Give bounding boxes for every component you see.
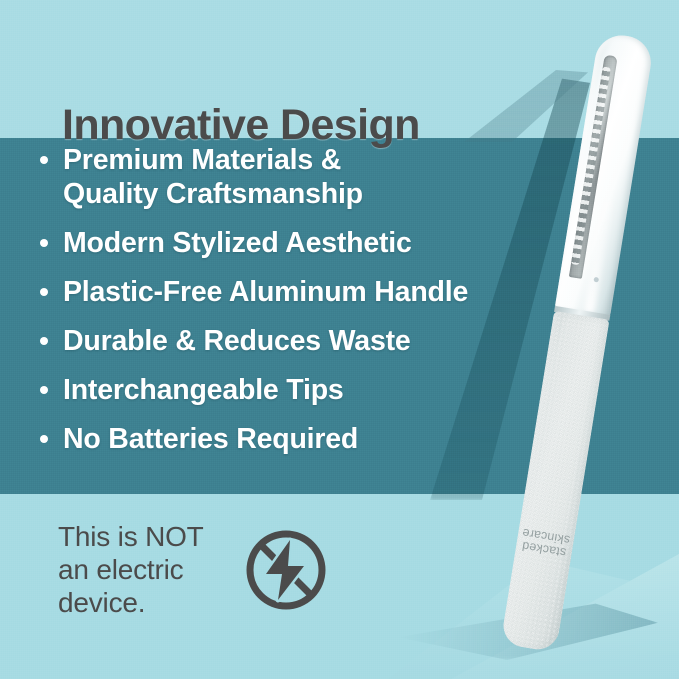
feature-text-line2: Quality Craftsmanship — [63, 177, 530, 211]
list-item: Durable & Reduces Waste — [30, 324, 530, 358]
feature-text: Interchangeable Tips — [63, 374, 344, 406]
notice-line-1: This is NOT — [58, 520, 204, 553]
list-item: Plastic-Free Aluminum Handle — [30, 275, 530, 309]
list-item: Modern Stylized Aesthetic — [30, 226, 530, 260]
feature-list: Premium Materials & Quality Craftsmanshi… — [30, 143, 530, 471]
no-electricity-icon — [242, 526, 330, 614]
feature-text: Premium Materials & — [63, 144, 341, 176]
list-item: Premium Materials & Quality Craftsmanshi… — [30, 143, 530, 211]
feature-text: Durable & Reduces Waste — [63, 325, 411, 357]
notice-line-2: an electric — [58, 553, 204, 586]
notice-line-3: device. — [58, 586, 204, 619]
notice-text: This is NOT an electric device. — [58, 520, 204, 619]
feature-text: Plastic-Free Aluminum Handle — [63, 276, 468, 308]
feature-text: No Batteries Required — [63, 423, 358, 455]
list-item: No Batteries Required — [30, 422, 530, 456]
product-infographic: stacked skincare Innovative Design Premi… — [0, 0, 679, 679]
not-electric-notice: This is NOT an electric device. — [58, 520, 330, 619]
list-item: Interchangeable Tips — [30, 373, 530, 407]
feature-text: Modern Stylized Aesthetic — [63, 227, 412, 259]
